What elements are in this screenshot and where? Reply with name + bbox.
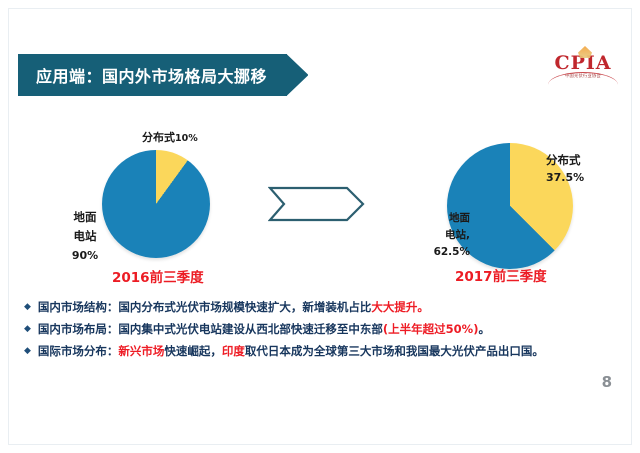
- bullet-item-2: ◆国内市场布局：国内集中式光伏电站建设从西北部快速迁移至中东部(上半年超过50%…: [24, 321, 624, 337]
- pie-2016-graphic: [102, 150, 210, 258]
- slide-title-banner: 应用端：国内外市场格局大挪移: [18, 54, 308, 96]
- page-number: 8: [602, 373, 612, 391]
- pie-2017-distributed-name: 分布式: [546, 152, 584, 169]
- bullet-3-segment-2: 新兴市场: [118, 344, 164, 358]
- bullet-2-segment-1: 国内市场布局：国内集中式光伏电站建设从西北部快速迁移至中东部: [38, 322, 383, 336]
- bullet-diamond-icon: ◆: [24, 321, 31, 337]
- bullet-3-segment-5: 取代日本成为全球第三大市场和我国最大光伏产品出口国。: [245, 344, 544, 358]
- logo-flame-icon: [578, 46, 592, 58]
- pie-2017-ground-value: 62.5%: [412, 244, 470, 261]
- bullet-1-segment-2: 大大提升。: [371, 300, 429, 314]
- pie-2016-ground-name-line1: 地面: [56, 208, 114, 227]
- pie-2016-ground-name-line2: 电站: [56, 227, 114, 246]
- pie-2016-caption: 2016前三季度: [112, 266, 204, 286]
- bullet-3-segment-3: 快速崛起，: [164, 344, 222, 358]
- cpia-logo: CPIA 中国光伏行业协会: [540, 44, 626, 90]
- bullet-diamond-icon: ◆: [24, 299, 31, 315]
- page-title: 应用端：国内外市场格局大挪移: [36, 63, 267, 87]
- bullet-2-segment-3: 。: [478, 322, 490, 336]
- pie-2016-label-ground: 地面 电站 90%: [56, 208, 114, 265]
- bullet-1-segment-1: 国内市场结构：国内分布式光伏市场规模快速扩大，新增装机占比: [38, 300, 372, 314]
- bullet-diamond-icon: ◆: [24, 343, 31, 359]
- bullet-text-3: 国际市场分布：新兴市场快速崛起，印度取代日本成为全球第三大市场和我国最大光伏产品…: [38, 343, 544, 359]
- pie-2016-distributed-value: 10%: [175, 133, 198, 144]
- pie-2016-label-distributed: 分布式10%: [142, 129, 198, 145]
- pie-2016-ground-value: 90%: [56, 246, 114, 265]
- pie-2017-caption: 2017前三季度: [455, 265, 547, 285]
- pie-2017-ground-name-line1: 地面: [412, 210, 470, 227]
- pie-2017-ground-name-line2: 电站,: [412, 227, 470, 244]
- bullet-3-segment-4: 印度: [222, 344, 245, 358]
- pie-2016-distributed-name: 分布式: [142, 131, 175, 144]
- bullet-text-2: 国内市场布局：国内集中式光伏电站建设从西北部快速迁移至中东部(上半年超过50%)…: [38, 321, 490, 337]
- bullet-item-3: ◆国际市场分布：新兴市场快速崛起，印度取代日本成为全球第三大市场和我国最大光伏产…: [24, 343, 624, 359]
- pie-2017-label-distributed: 分布式 37.5%: [546, 152, 584, 186]
- pie-2017-distributed-value: 37.5%: [546, 169, 584, 186]
- banner-chevron-notch: [287, 54, 309, 96]
- slide-canvas: 应用端：国内外市场格局大挪移 CPIA 中国光伏行业协会 分布式10% 地面 电…: [0, 0, 640, 453]
- pie-2017-label-ground: 地面 电站, 62.5%: [412, 210, 470, 261]
- transition-arrow-icon: [268, 186, 365, 222]
- bullet-text-1: 国内市场结构：国内分布式光伏市场规模快速扩大，新增装机占比大大提升。: [38, 299, 429, 315]
- bullet-item-1: ◆国内市场结构：国内分布式光伏市场规模快速扩大，新增装机占比大大提升。: [24, 299, 624, 315]
- bullet-3-segment-1: 国际市场分布：: [38, 344, 119, 358]
- bullet-list: ◆国内市场结构：国内分布式光伏市场规模快速扩大，新增装机占比大大提升。◆国内市场…: [24, 299, 624, 365]
- bullet-2-segment-2: (上半年超过50%): [383, 322, 479, 336]
